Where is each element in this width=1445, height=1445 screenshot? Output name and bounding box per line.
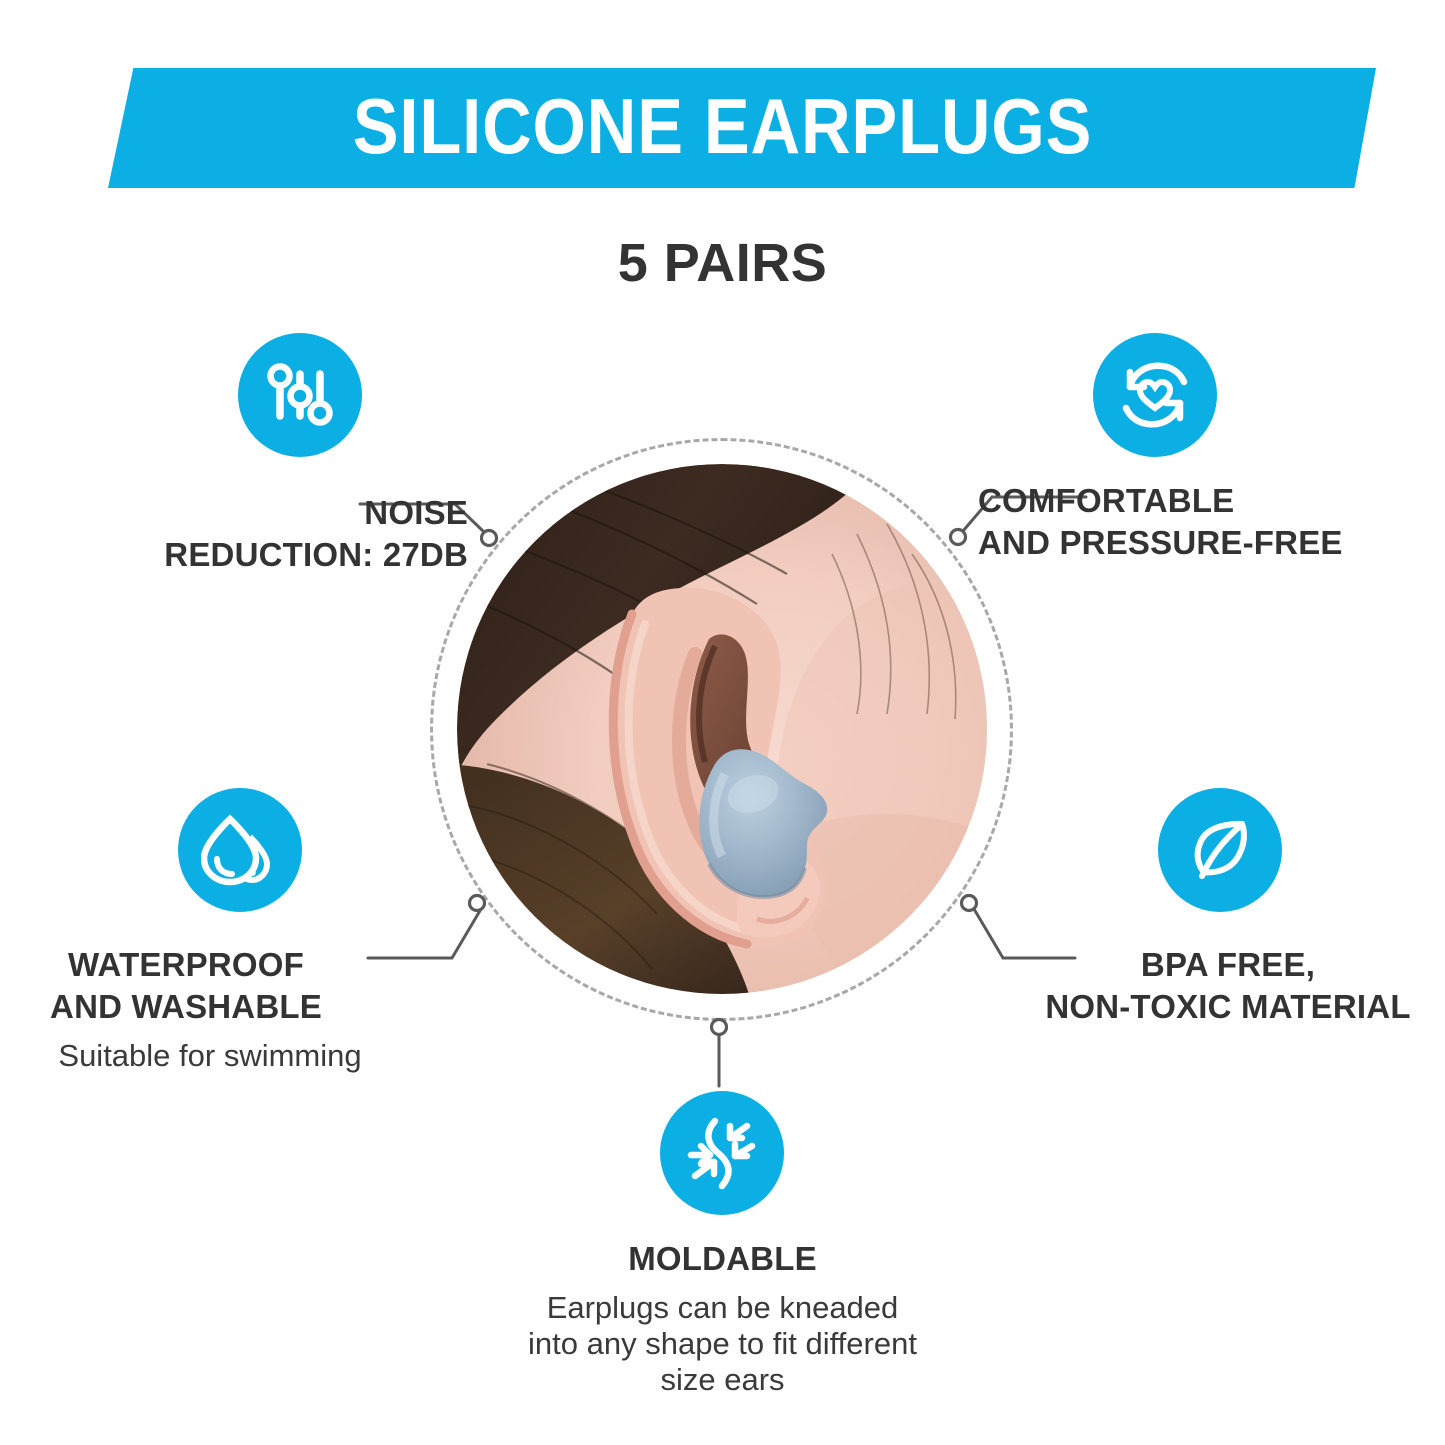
- feature-icon-comfortable: [1093, 333, 1217, 457]
- feature-title-line1: COMFORTABLE: [978, 482, 1234, 519]
- feature-subtext-moldable: Earplugs can be kneaded into any shape t…: [0, 1290, 1445, 1398]
- feature-label-noise-reduction: NOISE REDUCTION: 27DB: [0, 492, 468, 576]
- feature-label-waterproof: WATERPROOF AND WASHABLE: [0, 944, 372, 1028]
- feature-title-line1: BPA FREE,: [1141, 946, 1315, 983]
- feature-title-line2: AND PRESSURE-FREE: [978, 524, 1343, 561]
- feature-icon-noise-reduction: [238, 333, 362, 457]
- feature-label-comfortable: COMFORTABLE AND PRESSURE-FREE: [978, 480, 1438, 564]
- feature-title-line2: REDUCTION: 27DB: [164, 536, 468, 573]
- moldable-sub-line2: into any shape to fit different: [528, 1326, 917, 1361]
- infographic-page: SILICONE EARPLUGS 5 PAIRS: [0, 0, 1445, 1445]
- feature-label-bpa-free: BPA FREE, NON-TOXIC MATERIAL: [1012, 944, 1444, 1028]
- moldable-sub-line3: size ears: [660, 1362, 784, 1397]
- water-drops-icon: [201, 811, 279, 889]
- feature-title-line1: WATERPROOF: [68, 946, 304, 983]
- connector-dot-moldable: [712, 1020, 727, 1035]
- connector-dot-waterproof: [470, 896, 485, 911]
- feature-title-line2: NON-TOXIC MATERIAL: [1045, 988, 1410, 1025]
- ear-photo: [457, 464, 987, 994]
- recycle-heart-icon: [1117, 357, 1193, 433]
- feature-subtext-waterproof: Suitable for swimming: [0, 1038, 420, 1074]
- connector-dot-comfortable: [951, 530, 966, 545]
- page-title: SILICONE EARPLUGS: [87, 68, 1359, 188]
- connector-dot-bpa: [962, 896, 977, 911]
- equalizer-sliders-icon: [263, 358, 337, 432]
- moldable-sub-line1: Earplugs can be kneaded: [547, 1290, 899, 1325]
- pack-quantity-label: 5 PAIRS: [0, 232, 1445, 294]
- feature-icon-bpa-free: [1158, 788, 1282, 912]
- leaf-icon: [1184, 814, 1256, 886]
- feature-icon-waterproof: [178, 788, 302, 912]
- feature-title-line1: NOISE: [364, 494, 468, 531]
- feature-icon-moldable: [660, 1091, 784, 1215]
- moldable-arrows-icon: [682, 1113, 762, 1193]
- header-banner: SILICONE EARPLUGS: [0, 68, 1445, 188]
- connector-dot-noise: [482, 531, 497, 546]
- feature-label-moldable: MOLDABLE: [0, 1238, 1445, 1280]
- connector-waterproof: [368, 909, 481, 958]
- feature-title-line2: AND WASHABLE: [50, 988, 322, 1025]
